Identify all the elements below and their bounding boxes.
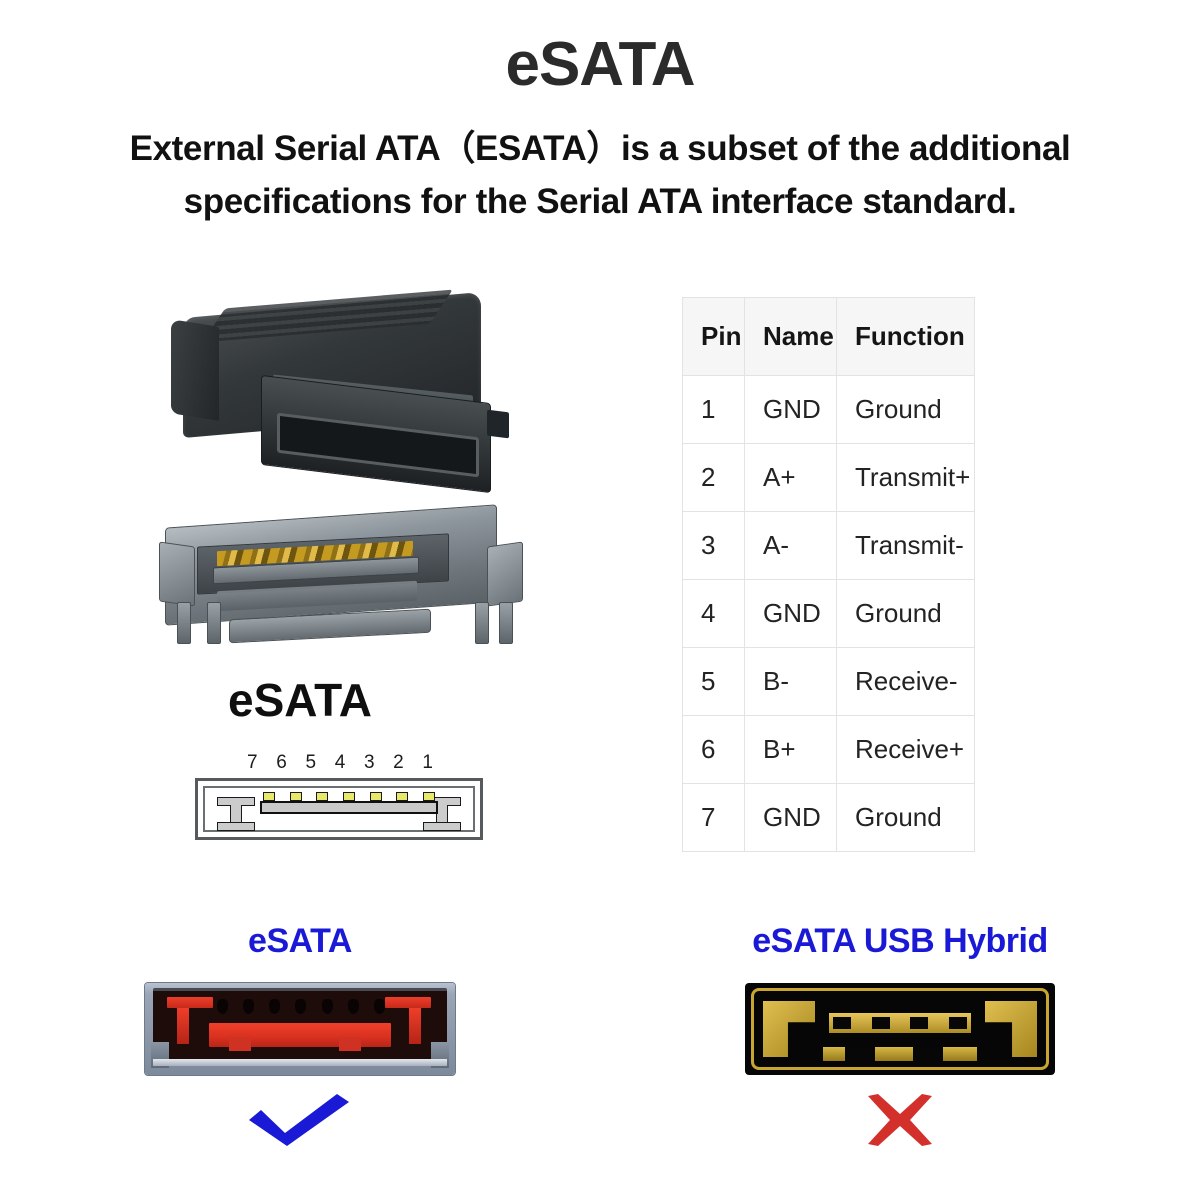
esata-plug-illustration	[165, 293, 505, 488]
port-comparison-section: eSATA	[0, 900, 1200, 1200]
pin-number: 1	[422, 752, 433, 774]
port-red-left-foot	[229, 1037, 251, 1051]
supported-port-label: eSATA	[0, 922, 600, 961]
port-red-left-rail	[167, 997, 213, 1008]
pinout-contact	[370, 792, 382, 801]
pinout-contact	[396, 792, 408, 801]
page-header: eSATA External Serial ATA（ESATA）is a sub…	[0, 0, 1200, 228]
cell-function: Ground	[837, 376, 975, 444]
table-row: 4 GND Ground	[683, 580, 975, 648]
esata-port-photo	[145, 983, 455, 1075]
port-slot-row	[217, 999, 385, 1014]
pin-number: 7	[247, 752, 258, 774]
pinout-contact	[423, 792, 435, 801]
port-red-left-post	[177, 1008, 189, 1044]
port-slot	[217, 999, 228, 1014]
esata-receptacle-illustration	[155, 506, 525, 666]
cell-function: Ground	[837, 784, 975, 852]
column-header-function: Function	[837, 298, 975, 376]
port-bottom-shield	[153, 1059, 447, 1066]
table-row: 7 GND Ground	[683, 784, 975, 852]
table-row: 5 B- Receive-	[683, 648, 975, 716]
cell-pin: 7	[683, 784, 745, 852]
table-row: 2 A+ Transmit+	[683, 444, 975, 512]
receptacle-left-wing-shape	[159, 541, 195, 606]
supported-verdict	[0, 1091, 600, 1149]
main-content: eSATA 7 6 5 4 3 2 1	[0, 278, 1200, 888]
comparison-supported: eSATA	[0, 900, 600, 1200]
port-red-right-rail	[385, 997, 431, 1008]
port-slot	[348, 999, 359, 1014]
pinout-contact	[316, 792, 328, 801]
cell-pin: 3	[683, 512, 745, 580]
cell-pin: 2	[683, 444, 745, 512]
pinout-contact-row	[263, 792, 435, 801]
hybrid-notch	[949, 1017, 967, 1029]
pin-number: 4	[335, 752, 346, 774]
receptacle-leg-shape	[177, 602, 191, 644]
cross-icon	[860, 1092, 940, 1148]
pin-table-head: Pin Name Function	[683, 298, 975, 376]
hybrid-notch	[910, 1017, 928, 1029]
plug-side-shape	[171, 319, 219, 421]
port-red-right-post	[409, 1008, 421, 1044]
esata-pinout-diagram: 7 6 5 4 3 2 1	[195, 756, 483, 846]
pinout-outer-frame	[195, 778, 483, 840]
unsupported-verdict	[600, 1091, 1200, 1149]
cell-pin: 1	[683, 376, 745, 444]
check-icon	[245, 1092, 355, 1148]
pinout-number-row: 7 6 5 4 3 2 1	[247, 752, 433, 774]
pin-number: 3	[364, 752, 375, 774]
cell-function: Receive+	[837, 716, 975, 784]
cell-pin: 6	[683, 716, 745, 784]
esata-wordmark: eSATA	[0, 673, 600, 727]
cell-name: GND	[745, 784, 837, 852]
hybrid-lower-gap	[913, 1047, 943, 1061]
table-row: 6 B+ Receive+	[683, 716, 975, 784]
hybrid-lower-gap	[845, 1047, 875, 1061]
esata-usb-hybrid-port-photo	[745, 983, 1055, 1075]
cell-pin: 5	[683, 648, 745, 716]
pinout-inner-frame	[203, 786, 475, 832]
cell-name: B+	[745, 716, 837, 784]
table-row: 3 A- Transmit-	[683, 512, 975, 580]
port-slot	[374, 999, 385, 1014]
cell-name: GND	[745, 580, 837, 648]
receptacle-right-wing-shape	[487, 541, 523, 606]
column-header-name: Name	[745, 298, 837, 376]
pin-table-body: 1 GND Ground 2 A+ Transmit+ 3 A- Transmi…	[683, 376, 975, 852]
illustrations-column: eSATA 7 6 5 4 3 2 1	[0, 278, 600, 888]
port-cavity	[153, 988, 447, 1061]
port-red-right-foot	[339, 1037, 361, 1051]
ibeam-bottom-bar	[423, 822, 461, 831]
cell-name: A-	[745, 512, 837, 580]
cell-name: B-	[745, 648, 837, 716]
page-title: eSATA	[0, 32, 1200, 97]
port-slot	[243, 999, 254, 1014]
pinout-contact	[343, 792, 355, 801]
hybrid-notch	[833, 1017, 851, 1029]
page-subtitle: External Serial ATA（ESATA）is a subset of…	[60, 123, 1140, 228]
pinout-contact	[290, 792, 302, 801]
pin-number: 2	[393, 752, 404, 774]
comparison-unsupported: eSATA USB Hybrid	[600, 900, 1200, 1200]
receptacle-leg-shape	[207, 602, 221, 644]
pinout-left-ibeam-icon	[217, 797, 255, 831]
cell-function: Transmit+	[837, 444, 975, 512]
cell-function: Receive-	[837, 648, 975, 716]
cell-pin: 4	[683, 580, 745, 648]
port-slot	[322, 999, 333, 1014]
pin-number: 6	[276, 752, 287, 774]
cell-function: Ground	[837, 580, 975, 648]
hybrid-notch-row	[833, 1017, 967, 1029]
receptacle-leg-shape	[499, 602, 513, 644]
pin-number: 5	[305, 752, 316, 774]
pin-table-column: Pin Name Function 1 GND Ground 2 A+ Tran…	[600, 278, 1200, 888]
unsupported-port-label: eSATA USB Hybrid	[600, 922, 1200, 961]
port-slot	[269, 999, 280, 1014]
receptacle-leg-shape	[475, 602, 489, 644]
cell-name: A+	[745, 444, 837, 512]
hybrid-notch	[872, 1017, 890, 1029]
cell-name: GND	[745, 376, 837, 444]
ibeam-bottom-bar	[217, 822, 255, 831]
pinout-contact-bar	[260, 801, 438, 814]
plug-latch-tab-shape	[487, 410, 509, 439]
esata-pin-table: Pin Name Function 1 GND Ground 2 A+ Tran…	[682, 297, 975, 852]
table-row: 1 GND Ground	[683, 376, 975, 444]
pinout-contact	[263, 792, 275, 801]
cell-function: Transmit-	[837, 512, 975, 580]
column-header-pin: Pin	[683, 298, 745, 376]
port-slot	[295, 999, 306, 1014]
table-header-row: Pin Name Function	[683, 298, 975, 376]
